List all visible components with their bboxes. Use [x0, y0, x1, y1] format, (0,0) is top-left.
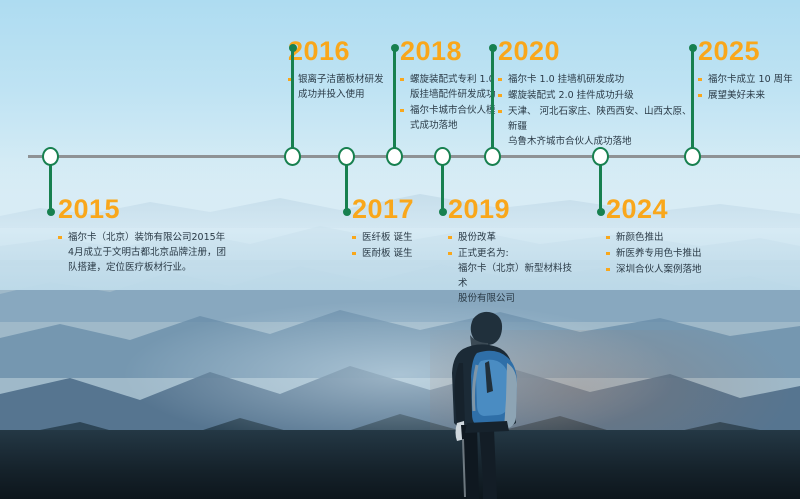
bullet-list-2015: 福尔卡（北京）装饰有限公司2015年 4月成立于文明古都北京品牌注册，团 队搭建… — [58, 230, 238, 275]
year-label-2024: 2024 — [606, 196, 736, 223]
timeline-entry-2015[interactable]: 2015 福尔卡（北京）装饰有限公司2015年 4月成立于文明古都北京品牌注册，… — [58, 196, 238, 276]
timeline-node-2018[interactable] — [386, 147, 403, 166]
bullet-item: 螺旋装配式专利 1.0 版挂墙配件研发成功 — [400, 72, 496, 102]
year-label-2018: 2018 — [400, 38, 496, 65]
bullet-item: 天津、 河北石家庄、陕西西安、山西太原、新疆 乌鲁木齐城市合伙人成功落地 — [498, 104, 693, 149]
year-label-2019: 2019 — [448, 196, 578, 223]
timeline-entry-2018[interactable]: 2018 螺旋装配式专利 1.0 版挂墙配件研发成功 福尔卡城市合伙人模 式成功… — [400, 38, 496, 134]
bullet-item: 福尔卡 1.0 挂墙机研发成功 — [498, 72, 693, 87]
timeline-node-2019[interactable] — [434, 147, 451, 166]
timeline-stem-2020 — [491, 48, 494, 156]
timeline-node-2016[interactable] — [284, 147, 301, 166]
timeline-infographic: 2015 福尔卡（北京）装饰有限公司2015年 4月成立于文明古都北京品牌注册，… — [0, 0, 800, 499]
timeline-entry-2020[interactable]: 2020 福尔卡 1.0 挂墙机研发成功 螺旋装配式 2.0 挂件成功升级 天津… — [498, 38, 693, 150]
bullet-item: 新颜色推出 — [606, 230, 736, 245]
bullet-item: 医耐板 诞生 — [352, 246, 442, 261]
year-label-2017: 2017 — [352, 196, 442, 223]
timeline-entry-2016[interactable]: 2016 银离子洁菌板材研发 成功并投入使用 — [288, 38, 388, 103]
bullet-item: 福尔卡成立 10 周年 — [698, 72, 798, 87]
bullet-item: 深圳合伙人案例落地 — [606, 262, 736, 277]
bullet-list-2024: 新颜色推出 新医养专用色卡推出 深圳合伙人案例落地 — [606, 230, 736, 277]
bullet-list-2025: 福尔卡成立 10 周年 展望美好未来 — [698, 72, 798, 103]
bullet-list-2018: 螺旋装配式专利 1.0 版挂墙配件研发成功 福尔卡城市合伙人模 式成功落地 — [400, 72, 496, 133]
bullet-item: 新医养专用色卡推出 — [606, 246, 736, 261]
year-label-2020: 2020 — [498, 38, 693, 65]
year-label-2016: 2016 — [288, 38, 388, 65]
foreground-slope — [0, 430, 800, 499]
bullet-item: 展望美好未来 — [698, 88, 798, 103]
timeline-entry-2025[interactable]: 2025 福尔卡成立 10 周年 展望美好未来 — [698, 38, 798, 104]
timeline-entry-2024[interactable]: 2024 新颜色推出 新医养专用色卡推出 深圳合伙人案例落地 — [606, 196, 736, 278]
bullet-list-2020: 福尔卡 1.0 挂墙机研发成功 螺旋装配式 2.0 挂件成功升级 天津、 河北石… — [498, 72, 693, 149]
bullet-item: 医纤板 诞生 — [352, 230, 442, 245]
timeline-stem-2018 — [393, 48, 396, 156]
year-label-2025: 2025 — [698, 38, 798, 65]
bullet-list-2016: 银离子洁菌板材研发 成功并投入使用 — [288, 72, 388, 102]
timeline-entry-2019[interactable]: 2019 股份改革 正式更名为: 福尔卡（北京）新型材料技术 股份有限公司 — [448, 196, 578, 307]
bullet-list-2019: 股份改革 正式更名为: 福尔卡（北京）新型材料技术 股份有限公司 — [448, 230, 578, 306]
bullet-item: 银离子洁菌板材研发 成功并投入使用 — [288, 72, 388, 102]
bullet-item: 正式更名为: 福尔卡（北京）新型材料技术 股份有限公司 — [448, 246, 578, 306]
bullet-item: 螺旋装配式 2.0 挂件成功升级 — [498, 88, 693, 103]
bullet-item: 福尔卡城市合伙人模 式成功落地 — [400, 103, 496, 133]
bullet-item: 股份改革 — [448, 230, 578, 245]
timeline-node-2015[interactable] — [42, 147, 59, 166]
bullet-list-2017: 医纤板 诞生 医耐板 诞生 — [352, 230, 442, 261]
timeline-node-2017[interactable] — [338, 147, 355, 166]
timeline-stem-2025 — [691, 48, 694, 156]
timeline-node-2024[interactable] — [592, 147, 609, 166]
hiker-figure — [415, 305, 545, 499]
year-label-2015: 2015 — [58, 196, 238, 223]
timeline-entry-2017[interactable]: 2017 医纤板 诞生 医耐板 诞生 — [352, 196, 442, 262]
timeline-stem-2016 — [291, 48, 294, 156]
timeline-node-2020[interactable] — [484, 147, 501, 166]
bullet-item: 福尔卡（北京）装饰有限公司2015年 4月成立于文明古都北京品牌注册，团 队搭建… — [58, 230, 238, 275]
timeline-node-2025[interactable] — [684, 147, 701, 166]
